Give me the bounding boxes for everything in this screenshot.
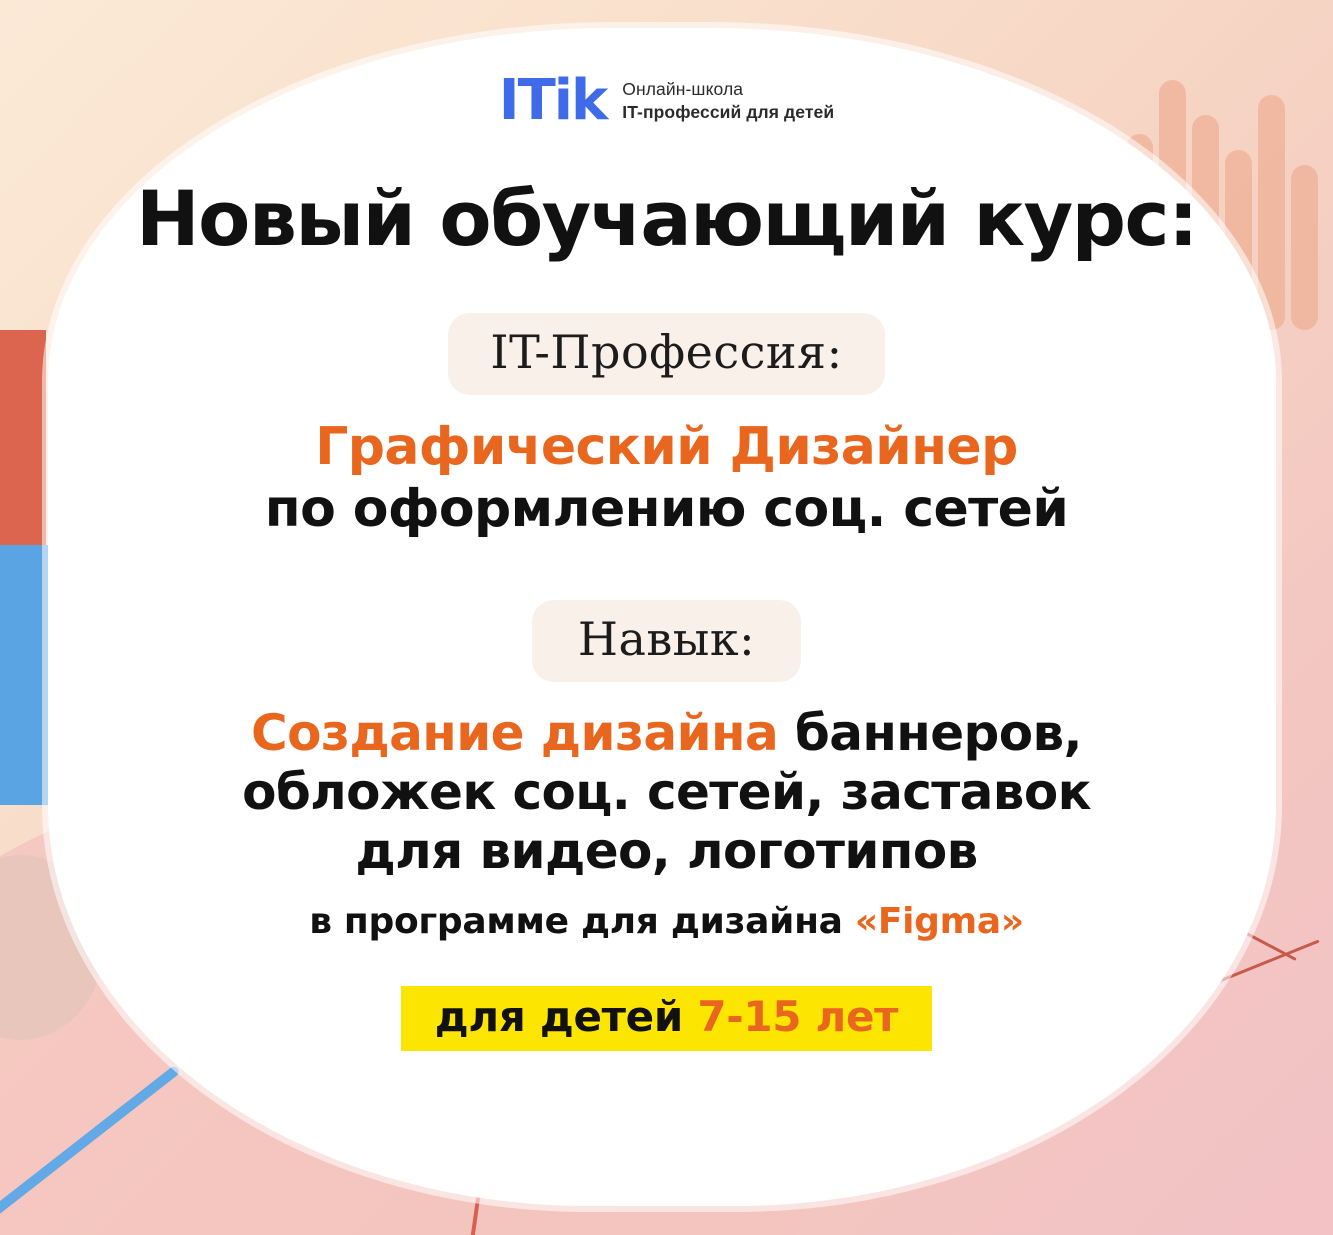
age-footer: для детей 7-15 лет	[401, 986, 932, 1051]
profession-highlight: Графический Дизайнер	[265, 417, 1068, 478]
age-prefix: для детей	[435, 992, 698, 1041]
skill-program-line: в программе для дизайна «Figma»	[242, 901, 1091, 943]
skill-line-2: обложек соц. сетей, заставок	[242, 763, 1091, 822]
skill-badge: Навык:	[532, 600, 801, 682]
skill-highlight: Создание дизайна	[251, 704, 778, 762]
profession-text-block: Графический Дизайнер по оформлению соц. …	[265, 417, 1068, 540]
skill-program-name: «Figma»	[855, 901, 1024, 942]
age-highlight-badge: для детей 7-15 лет	[401, 986, 932, 1051]
page-title: Новый обучающий курс:	[136, 174, 1197, 263]
skill-line-3: для видео, логотипов	[242, 822, 1091, 881]
brand-tagline-line2: IT-профессий для детей	[622, 101, 834, 125]
profession-detail: по оформлению соц. сетей	[265, 479, 1068, 540]
brand-tagline-line1: Онлайн-школа	[622, 78, 834, 102]
skill-line-1-rest: баннеров,	[778, 704, 1082, 762]
skill-line-1: Создание дизайна баннеров,	[242, 704, 1091, 763]
itik-logo-icon: ITik	[499, 76, 606, 126]
poster-content: ITik Онлайн-школа IT-профессий для детей…	[0, 0, 1333, 1235]
brand-header: ITik Онлайн-школа IT-профессий для детей	[499, 76, 834, 126]
skill-program-prefix: в программе для дизайна	[309, 901, 855, 942]
skill-text-block: Создание дизайна баннеров, обложек соц. …	[242, 704, 1091, 943]
age-range: 7-15 лет	[697, 992, 898, 1041]
brand-tagline: Онлайн-школа IT-профессий для детей	[622, 78, 834, 125]
profession-badge: IT-Профессия:	[448, 313, 884, 395]
poster: ITik Онлайн-школа IT-профессий для детей…	[0, 0, 1333, 1235]
